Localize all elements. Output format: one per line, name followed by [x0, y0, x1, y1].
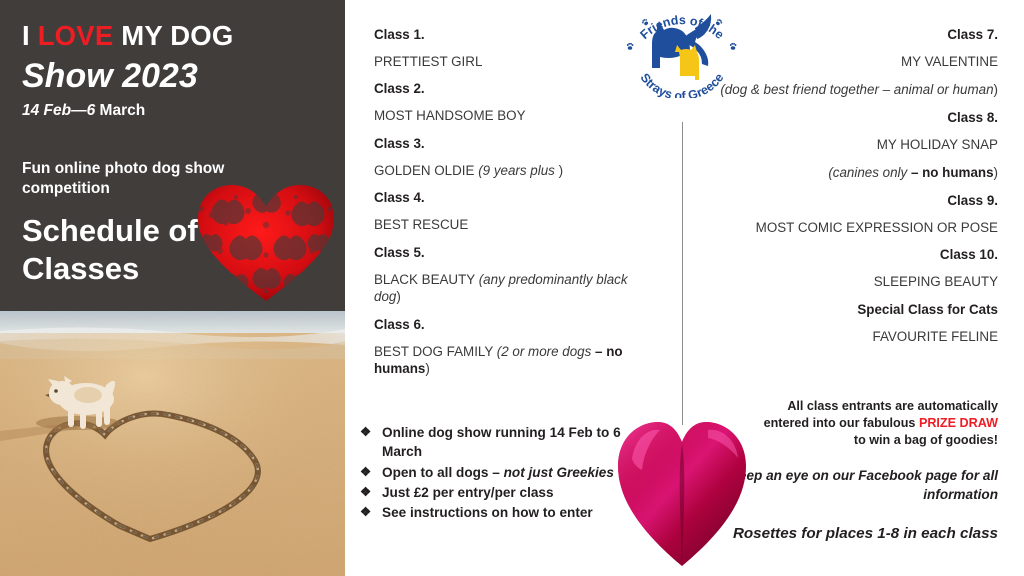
cat-silhouette-icon [675, 45, 699, 80]
classes-left-list: Class 1. PRETTIEST GIRL Class 2. MOST HA… [360, 27, 655, 388]
class-entry: Class 10. SLEEPING BEAUTY [698, 247, 998, 290]
left-panel: I LOVE MY DOG Show 2023 14 Feb—6 March F… [0, 0, 345, 576]
prize-line-2-pre: entered into our fabulous [764, 416, 919, 430]
class-name: BEST DOG FAMILY (2 or more dogs – no hum… [374, 343, 655, 378]
list-item: ❖ Just £2 per entry/per class [360, 483, 660, 502]
class-heading: Class 9. [698, 193, 998, 208]
bullet-text-italic: not just Greekies [504, 465, 614, 480]
prize-draw-accent: PRIZE DRAW [919, 416, 998, 430]
class-heading: Special Class for Cats [698, 302, 998, 317]
bullet-text-main: Open to all dogs – [382, 465, 504, 480]
class-heading: Class 2. [374, 81, 655, 96]
class-name: MOST HANDSOME BOY [374, 107, 655, 124]
mosaic-heart-icon [196, 181, 336, 303]
column-divider [682, 122, 683, 425]
list-item: ❖ Open to all dogs – not just Greekies [360, 463, 660, 482]
class-name-text: BLACK BEAUTY [374, 272, 479, 287]
class-note-tail: ) [994, 82, 998, 97]
dates-italic-part: 14 Feb—6 [22, 102, 95, 119]
class-name-text: BEST RESCUE [374, 217, 468, 232]
class-note-bold: – no humans [911, 165, 994, 180]
class-name: PRETTIEST GIRL [374, 53, 655, 70]
class-name-text: MOST HANDSOME BOY [374, 108, 526, 123]
classes-left-column: Class 1. PRETTIEST GIRL Class 2. MOST HA… [360, 0, 655, 576]
poster-title-line1: I LOVE MY DOG [22, 22, 322, 51]
glossy-heart-icon [616, 414, 748, 570]
class-heading: Class 1. [374, 27, 655, 42]
class-heading: Class 10. [698, 247, 998, 262]
bullet-diamond-icon: ❖ [360, 423, 382, 441]
class-heading: Class 3. [374, 136, 655, 151]
bullet-text-main: Just £2 per entry/per class [382, 485, 554, 500]
beach-photo [0, 311, 345, 576]
class-note-tail: ) [396, 289, 400, 304]
class-entry: Class 1. PRETTIEST GIRL [360, 27, 655, 70]
class-name-text: MY VALENTINE [901, 54, 998, 69]
class-entry: Class 5. BLACK BEAUTY (any predominantly… [360, 245, 655, 306]
poster-dates: 14 Feb—6 March [22, 102, 322, 120]
poster-title-show: Show 2023 [22, 56, 322, 96]
list-item: ❖ See instructions on how to enter [360, 503, 660, 522]
class-name-text: FAVOURITE FELINE [873, 329, 999, 344]
class-heading: Class 6. [374, 317, 655, 332]
title-post: MY DOG [113, 20, 233, 51]
bullet-text-main: See instructions on how to enter [382, 505, 593, 520]
class-name-text: PRETTIEST GIRL [374, 54, 482, 69]
class-name-text: SLEEPING BEAUTY [874, 274, 998, 289]
bullet-diamond-icon: ❖ [360, 503, 382, 521]
class-heading: Class 8. [698, 110, 998, 125]
class-name: FAVOURITE FELINE [698, 328, 998, 345]
title-accent-love: LOVE [38, 20, 114, 51]
class-heading: Class 4. [374, 190, 655, 205]
class-name-text: MOST COMIC EXPRESSION OR POSE [756, 220, 998, 235]
class-heading: Class 5. [374, 245, 655, 260]
title-pre: I [22, 20, 38, 51]
class-note: (9 years plus [478, 163, 558, 178]
class-note-tail: ) [559, 163, 563, 178]
class-name-text: BEST DOG FAMILY [374, 344, 497, 359]
info-bullet-list: ❖ Online dog show running 14 Feb to 6 Ma… [360, 423, 660, 523]
class-name: SLEEPING BEAUTY [698, 273, 998, 290]
class-note-line: (canines only – no humans) [698, 164, 998, 181]
class-entry: Class 9. MOST COMIC EXPRESSION OR POSE [698, 193, 998, 236]
class-name: BLACK BEAUTY (any predominantly black do… [374, 271, 655, 306]
class-name: GOLDEN OLDIE (9 years plus ) [374, 162, 655, 179]
class-note-tail: ) [425, 361, 429, 376]
poster-canvas: I LOVE MY DOG Show 2023 14 Feb—6 March F… [0, 0, 1024, 576]
classes-right-list: Class 7. MY VALENTINE (dog & best friend… [698, 27, 998, 356]
class-note: (dog & best friend together – animal or … [720, 82, 993, 97]
prize-line-1: All class entrants are automatically [698, 398, 998, 415]
bullet-diamond-icon: ❖ [360, 463, 382, 481]
class-heading: Class 7. [698, 27, 998, 42]
class-entry: Class 8. MY HOLIDAY SNAP (canines only –… [698, 110, 998, 182]
bullet-diamond-icon: ❖ [360, 483, 382, 501]
class-name-text: GOLDEN OLDIE [374, 163, 478, 178]
class-entry: Class 2. MOST HANDSOME BOY [360, 81, 655, 124]
class-name: BEST RESCUE [374, 216, 655, 233]
class-name: MOST COMIC EXPRESSION OR POSE [698, 219, 998, 236]
class-entry: Class 3. GOLDEN OLDIE (9 years plus ) [360, 136, 655, 179]
class-name-text: MY HOLIDAY SNAP [877, 137, 998, 152]
class-entry: Class 4. BEST RESCUE [360, 190, 655, 233]
class-entry: Class 7. MY VALENTINE (dog & best friend… [698, 27, 998, 99]
class-note: (canines only [828, 165, 911, 180]
title-block: I LOVE MY DOG Show 2023 14 Feb—6 March [22, 22, 322, 120]
class-note-line: (dog & best friend together – animal or … [698, 81, 998, 98]
class-name: MY HOLIDAY SNAP [698, 136, 998, 153]
class-entry: Class 6. BEST DOG FAMILY (2 or more dogs… [360, 317, 655, 378]
class-note: (2 or more dogs [497, 344, 595, 359]
list-item: ❖ Online dog show running 14 Feb to 6 Ma… [360, 423, 660, 462]
class-name: MY VALENTINE [698, 53, 998, 70]
dates-rest-part: March [95, 102, 145, 119]
class-entry: Special Class for Cats FAVOURITE FELINE [698, 302, 998, 345]
bullet-text-main: Online dog show running 14 Feb to 6 Marc… [382, 425, 621, 459]
class-note-tail: ) [994, 165, 998, 180]
